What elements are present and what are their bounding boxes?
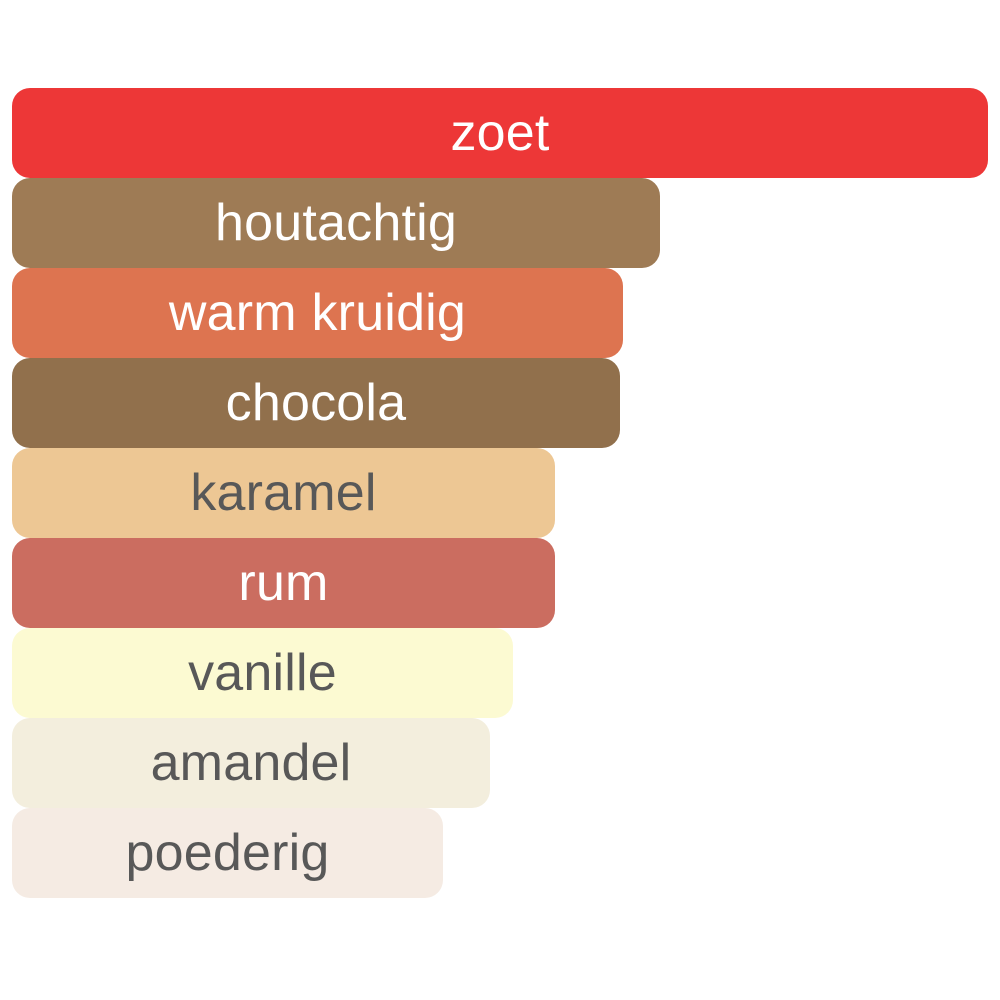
bar-row: zoet <box>12 88 1000 178</box>
bar-chocola[interactable]: chocola <box>12 358 620 448</box>
bar-row: houtachtig <box>12 178 1000 268</box>
bar-label: karamel <box>190 467 376 519</box>
bar-label: amandel <box>151 737 352 789</box>
bar-rum[interactable]: rum <box>12 538 555 628</box>
bar-houtachtig[interactable]: houtachtig <box>12 178 660 268</box>
bar-amandel[interactable]: amandel <box>12 718 490 808</box>
bar-label: houtachtig <box>215 197 457 249</box>
flavor-bar-chart: zoethoutachtigwarm kruidigchocolakaramel… <box>0 0 1000 1000</box>
bar-row: chocola <box>12 358 1000 448</box>
bar-poederig[interactable]: poederig <box>12 808 443 898</box>
bar-label: chocola <box>226 377 407 429</box>
bar-label: rum <box>238 557 328 609</box>
bar-label: warm kruidig <box>169 287 466 339</box>
bar-row: vanille <box>12 628 1000 718</box>
bar-row: amandel <box>12 718 1000 808</box>
bar-list: zoethoutachtigwarm kruidigchocolakaramel… <box>12 88 1000 898</box>
bar-row: karamel <box>12 448 1000 538</box>
bar-zoet[interactable]: zoet <box>12 88 988 178</box>
bar-label: zoet <box>450 107 549 159</box>
bar-vanille[interactable]: vanille <box>12 628 513 718</box>
bar-warm-kruidig[interactable]: warm kruidig <box>12 268 623 358</box>
bar-karamel[interactable]: karamel <box>12 448 555 538</box>
bar-row: warm kruidig <box>12 268 1000 358</box>
bar-label: vanille <box>188 647 337 699</box>
bar-label: poederig <box>126 827 330 879</box>
bar-row: poederig <box>12 808 1000 898</box>
bar-row: rum <box>12 538 1000 628</box>
